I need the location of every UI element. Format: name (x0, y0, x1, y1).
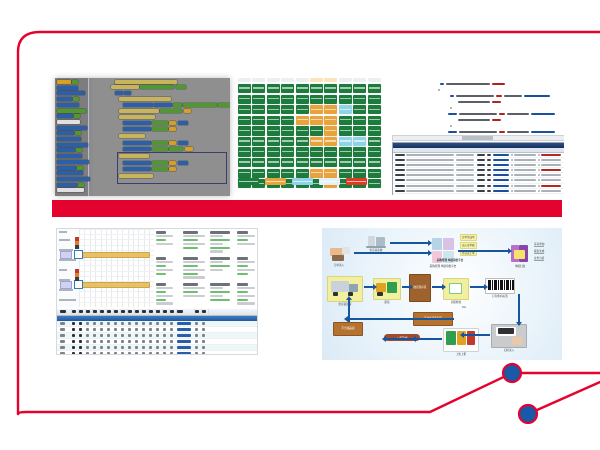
code-block[interactable] (140, 85, 174, 89)
status-tile[interactable] (281, 137, 294, 146)
status-tile[interactable] (296, 116, 309, 125)
code-block[interactable] (173, 103, 182, 107)
status-legend (238, 178, 367, 185)
log-token (541, 185, 561, 187)
grid-column-header (324, 78, 337, 82)
palette-block-accent[interactable] (78, 183, 84, 187)
code-block[interactable] (123, 147, 151, 151)
code-block[interactable] (119, 109, 159, 113)
table-cell (128, 334, 131, 336)
code-block[interactable] (119, 97, 171, 101)
gantt-and-table-screenshot (56, 228, 258, 355)
blocks-palette (55, 78, 89, 196)
status-tile[interactable] (353, 137, 366, 146)
status-tile[interactable] (238, 158, 251, 167)
log-token (538, 159, 540, 161)
status-tile[interactable] (324, 147, 337, 156)
status-tile[interactable] (368, 169, 381, 178)
palette-block[interactable] (57, 148, 75, 152)
table-cell (100, 334, 103, 336)
code-block[interactable] (115, 80, 177, 84)
gantt-gridline-v (95, 229, 96, 307)
palette-block[interactable] (57, 188, 84, 192)
barcode-bar (512, 280, 514, 290)
detail-card[interactable] (156, 283, 180, 306)
status-tile[interactable] (267, 147, 280, 156)
gantt-gridline-h (79, 302, 154, 303)
code-block[interactable] (218, 103, 230, 107)
flow-node-unload[interactable]: 卸货 (374, 278, 400, 304)
status-tile[interactable] (368, 84, 381, 93)
detail-card[interactable] (156, 231, 180, 247)
status-tile[interactable] (368, 147, 381, 156)
palette-block[interactable] (57, 109, 86, 113)
table-column-header[interactable] (149, 310, 153, 312)
code-token (496, 95, 502, 97)
detail-card[interactable] (156, 257, 180, 276)
table-cell (170, 346, 173, 348)
palette-block[interactable] (57, 177, 90, 181)
status-tile[interactable] (368, 126, 381, 135)
table-column-header[interactable] (202, 310, 206, 312)
status-tile[interactable] (267, 95, 280, 104)
status-tile[interactable] (339, 105, 352, 114)
code-block[interactable] (176, 85, 186, 89)
code-block[interactable] (123, 127, 151, 131)
status-tile[interactable] (368, 137, 381, 146)
card-line (156, 265, 166, 268)
palette-block[interactable] (57, 86, 78, 90)
log-token (477, 174, 485, 176)
flow-node-inbound-truck[interactable]: 供应商送货 (328, 276, 362, 306)
palette-block-accent[interactable] (75, 131, 81, 135)
code-block[interactable] (152, 127, 168, 131)
table-column-header[interactable] (79, 310, 83, 312)
status-tile[interactable] (296, 84, 309, 93)
card-line (210, 239, 230, 242)
palette-block[interactable] (57, 143, 88, 147)
flow-arrow-head (516, 322, 522, 326)
status-tile[interactable] (267, 158, 280, 167)
detail-card[interactable] (237, 283, 258, 306)
code-token (459, 113, 497, 115)
status-tile[interactable] (281, 84, 294, 93)
table-cell (149, 322, 152, 324)
gantt-row-label (59, 239, 70, 241)
code-block[interactable] (183, 103, 217, 107)
table-column-header[interactable] (100, 310, 104, 312)
status-tile[interactable] (252, 105, 265, 114)
status-tile[interactable] (267, 137, 280, 146)
code-block[interactable] (119, 115, 155, 119)
status-tile[interactable] (252, 95, 265, 104)
flow-node-inspection[interactable]: 到货检验 (444, 278, 468, 304)
card-line (156, 257, 166, 260)
log-row[interactable] (393, 194, 564, 195)
gantt-milestone-node[interactable] (74, 280, 83, 289)
code-block[interactable] (124, 91, 131, 95)
status-tile[interactable] (310, 116, 323, 125)
log-token (538, 164, 540, 166)
flow-node-shape (443, 278, 469, 300)
flow-node-label: 扫码录入 (504, 349, 514, 352)
status-tile[interactable] (353, 126, 366, 135)
flow-icon-part (376, 237, 385, 246)
gantt-milestone-node[interactable] (74, 250, 83, 259)
card-line (210, 299, 230, 302)
flow-node-shape (364, 234, 388, 248)
palette-block-accent[interactable] (76, 148, 82, 152)
table-cell (202, 328, 205, 330)
status-tile[interactable] (324, 137, 337, 146)
status-tile[interactable] (339, 137, 352, 146)
palette-block-accent[interactable] (73, 97, 79, 101)
code-block[interactable] (152, 121, 168, 125)
status-tile[interactable] (310, 84, 323, 93)
code-token (448, 113, 457, 115)
code-block[interactable] (160, 109, 182, 113)
flow-arrow (390, 242, 428, 244)
scrollbar-thumb[interactable] (462, 136, 493, 140)
code-block[interactable] (123, 121, 151, 125)
gantt-row-label (59, 231, 67, 233)
code-block[interactable] (178, 141, 188, 145)
status-tile[interactable] (281, 105, 294, 114)
table-column-header[interactable] (195, 310, 199, 312)
palette-block[interactable] (57, 80, 71, 84)
table-column-header[interactable] (170, 310, 174, 312)
gantt-gridline-v (133, 229, 134, 307)
code-horizontal-scrollbar[interactable] (392, 135, 564, 141)
table-cell (128, 352, 131, 354)
gantt-bar[interactable] (82, 282, 150, 288)
status-tile[interactable] (281, 158, 294, 167)
log-token (541, 174, 561, 176)
code-token (492, 119, 501, 121)
status-tile[interactable] (238, 126, 251, 135)
table-row[interactable] (57, 351, 257, 355)
status-tile[interactable] (324, 126, 337, 135)
status-tile[interactable] (252, 84, 265, 93)
status-tile[interactable] (281, 126, 294, 135)
code-block[interactable] (178, 121, 188, 125)
table-column-header[interactable] (135, 310, 139, 312)
table-cell (195, 322, 198, 324)
table-cell (170, 352, 173, 354)
status-tile[interactable] (310, 95, 323, 104)
barcode-bar (504, 280, 505, 290)
table-column-header[interactable] (114, 310, 118, 312)
status-tile[interactable] (310, 105, 323, 114)
log-row-list (393, 153, 564, 195)
status-tile[interactable] (267, 84, 280, 93)
log-token (456, 159, 474, 161)
status-tile[interactable] (296, 126, 309, 135)
flow-arrow-head (373, 284, 377, 290)
table-cell (135, 322, 138, 324)
log-token (406, 169, 454, 171)
code-block[interactable] (169, 141, 176, 145)
status-tile[interactable] (339, 126, 352, 135)
code-block[interactable] (154, 103, 172, 107)
log-token (456, 185, 474, 187)
log-token (477, 164, 485, 166)
status-tile[interactable] (252, 147, 265, 156)
status-tile[interactable] (353, 116, 366, 125)
status-tile[interactable] (368, 105, 381, 114)
log-token (456, 169, 474, 171)
log-token (406, 159, 454, 161)
flow-node-doc-archive[interactable]: 单据归档 (510, 244, 530, 268)
status-tile[interactable] (281, 169, 294, 178)
status-tile[interactable] (252, 158, 265, 167)
table-cell (86, 322, 89, 324)
status-tile[interactable] (324, 116, 337, 125)
grid-column-header (339, 78, 352, 82)
palette-block[interactable] (57, 97, 72, 101)
status-tile[interactable] (238, 116, 251, 125)
flow-node-order-desk[interactable]: 订单录入 (326, 246, 352, 267)
status-tile[interactable] (368, 179, 381, 188)
log-token (406, 185, 454, 187)
status-tile[interactable] (252, 126, 265, 135)
status-tile[interactable] (324, 158, 337, 167)
status-tile[interactable] (310, 158, 323, 167)
table-column-header[interactable] (107, 310, 111, 312)
table-cell (107, 328, 110, 330)
code-block[interactable] (184, 109, 191, 113)
table-column-header[interactable] (156, 310, 160, 312)
status-tile[interactable] (324, 95, 337, 104)
status-tile[interactable] (353, 95, 366, 104)
code-block[interactable] (123, 141, 151, 145)
card-line (183, 283, 198, 286)
status-tile[interactable] (324, 84, 337, 93)
flow-arrow (364, 286, 373, 288)
palette-block[interactable] (57, 126, 87, 130)
gantt-bar[interactable] (82, 252, 150, 258)
status-tile[interactable] (353, 169, 366, 178)
status-tile[interactable] (368, 116, 381, 125)
code-block[interactable] (119, 134, 145, 138)
card-line (237, 273, 248, 276)
status-tile[interactable] (281, 147, 294, 156)
table-column-header[interactable] (163, 310, 167, 312)
detail-card[interactable] (210, 257, 234, 273)
status-tile[interactable] (353, 105, 366, 114)
blocks-editor-screenshot (55, 78, 230, 196)
palette-block[interactable] (57, 160, 89, 164)
table-cell (195, 328, 198, 330)
barcode-bar (498, 280, 499, 290)
card-line (183, 273, 198, 276)
status-tile[interactable] (296, 147, 309, 156)
status-tile[interactable] (267, 126, 280, 135)
palette-block[interactable] (57, 171, 83, 175)
table-cell (60, 340, 65, 342)
table-cell (149, 334, 152, 336)
gantt-gridline-h (79, 250, 154, 251)
gantt-gridline-v (101, 229, 102, 307)
status-tile[interactable] (353, 147, 366, 156)
flow-node-reject-return[interactable]: 不合格品退 (334, 322, 362, 336)
status-tile[interactable] (296, 137, 309, 146)
table-column-header[interactable] (86, 310, 90, 312)
code-token (450, 95, 454, 97)
status-tile[interactable] (339, 84, 352, 93)
status-tile[interactable] (339, 147, 352, 156)
palette-block[interactable] (57, 137, 81, 141)
detail-card[interactable] (210, 231, 234, 254)
barcode-bar (492, 280, 493, 290)
table-cell (195, 346, 198, 348)
status-tile[interactable] (310, 147, 323, 156)
grid-column-header (353, 78, 366, 82)
gantt-gridline-h (79, 239, 154, 240)
status-tile[interactable] (339, 169, 352, 178)
flow-icon-part (514, 250, 525, 259)
table-cell (128, 322, 131, 324)
status-tile[interactable] (296, 158, 309, 167)
gantt-gridline-v (106, 229, 107, 307)
code-block[interactable] (152, 147, 168, 151)
log-token (477, 185, 485, 187)
status-tile[interactable] (238, 147, 251, 156)
code-block[interactable] (169, 147, 183, 151)
code-block[interactable] (123, 103, 153, 107)
status-tile[interactable] (238, 95, 251, 104)
table-cell (121, 352, 124, 354)
palette-block[interactable] (57, 120, 80, 124)
status-tile[interactable] (238, 137, 251, 146)
table-column-header[interactable] (93, 310, 97, 312)
palette-block[interactable] (57, 131, 74, 135)
code-token (492, 83, 505, 85)
log-token (511, 154, 513, 156)
detail-card[interactable] (237, 231, 258, 247)
status-tile[interactable] (339, 116, 352, 125)
table-cell (107, 322, 110, 324)
table-column-header[interactable] (60, 310, 66, 312)
barcode-bar (508, 280, 509, 290)
palette-block[interactable] (57, 114, 73, 118)
flow-node-scan-in[interactable]: 扫码录入 (492, 324, 526, 352)
card-line (156, 261, 173, 264)
code-block[interactable] (169, 121, 176, 125)
code-block[interactable] (111, 85, 139, 89)
flow-node-erp-center[interactable]: 采购管理 单据审批平台 (430, 238, 456, 268)
status-tile[interactable] (324, 169, 337, 178)
status-tile[interactable] (281, 95, 294, 104)
palette-block[interactable] (57, 166, 76, 170)
status-tile[interactable] (252, 169, 265, 178)
status-tile[interactable] (353, 158, 366, 167)
card-line (210, 250, 223, 253)
table-cell (135, 340, 138, 342)
card-line (183, 247, 198, 250)
status-tile[interactable] (339, 95, 352, 104)
status-tile[interactable] (267, 116, 280, 125)
table-column-header[interactable] (128, 310, 132, 312)
code-block[interactable] (152, 141, 168, 145)
card-line (156, 283, 166, 286)
status-tile[interactable] (281, 116, 294, 125)
flow-node-staging[interactable]: 收货暂存区 (410, 274, 430, 302)
status-tile[interactable] (368, 95, 381, 104)
status-tile[interactable] (310, 126, 323, 135)
flow-tag: 报表生成 (534, 249, 544, 254)
palette-block-accent[interactable] (77, 166, 83, 170)
palette-block[interactable] (57, 183, 77, 187)
detail-card[interactable] (183, 257, 207, 280)
card-line (183, 295, 205, 298)
code-block[interactable] (169, 127, 176, 131)
status-tile[interactable] (296, 95, 309, 104)
grid-column-header (281, 78, 294, 82)
status-tile[interactable] (296, 169, 309, 178)
flow-node-label: 卸货 (384, 301, 389, 304)
status-tile[interactable] (368, 158, 381, 167)
palette-block[interactable] (57, 91, 85, 95)
status-tile[interactable] (238, 169, 251, 178)
flow-node-supplier-system[interactable]: 供应商系统 (364, 234, 388, 252)
table-cell (156, 328, 159, 330)
table-cell (93, 322, 96, 324)
card-line (156, 231, 166, 234)
gantt-group-chip[interactable] (60, 281, 72, 289)
table-column-header[interactable] (121, 310, 125, 312)
status-tile[interactable] (252, 116, 265, 125)
status-tile[interactable] (296, 105, 309, 114)
status-tile[interactable] (252, 137, 265, 146)
status-tile[interactable] (310, 169, 323, 178)
status-tile[interactable] (339, 158, 352, 167)
log-token (395, 174, 405, 176)
table-cell (142, 346, 145, 348)
log-token (538, 190, 540, 192)
table-column-header[interactable] (177, 310, 183, 312)
detail-card[interactable] (210, 283, 234, 302)
status-tile[interactable] (353, 84, 366, 93)
detail-card[interactable] (183, 231, 207, 250)
log-token (493, 159, 509, 161)
status-tile[interactable] (324, 105, 337, 114)
code-block[interactable] (185, 147, 193, 151)
gantt-status-marker (75, 277, 79, 281)
palette-block[interactable] (57, 103, 79, 107)
flow-node-label-print[interactable]: 打印条码标签 (486, 278, 514, 298)
log-token (395, 190, 405, 192)
detail-card[interactable] (183, 283, 207, 299)
palette-block[interactable] (57, 154, 82, 158)
status-tile[interactable] (267, 105, 280, 114)
barcode-bar (496, 280, 497, 290)
gantt-gridline-h (79, 245, 154, 246)
status-tile[interactable] (238, 84, 251, 93)
table-column-header[interactable] (72, 310, 76, 312)
flow-icon-part (512, 337, 522, 345)
gantt-group-chip[interactable] (60, 251, 72, 259)
palette-block-accent[interactable] (72, 80, 78, 84)
detail-card[interactable] (237, 257, 258, 276)
code-block[interactable] (115, 91, 123, 95)
status-tile[interactable] (310, 137, 323, 146)
table-cell (177, 328, 191, 330)
status-tile[interactable] (267, 169, 280, 178)
palette-block-accent[interactable] (74, 114, 80, 118)
status-tile[interactable] (238, 105, 251, 114)
table-column-header[interactable] (142, 310, 146, 312)
